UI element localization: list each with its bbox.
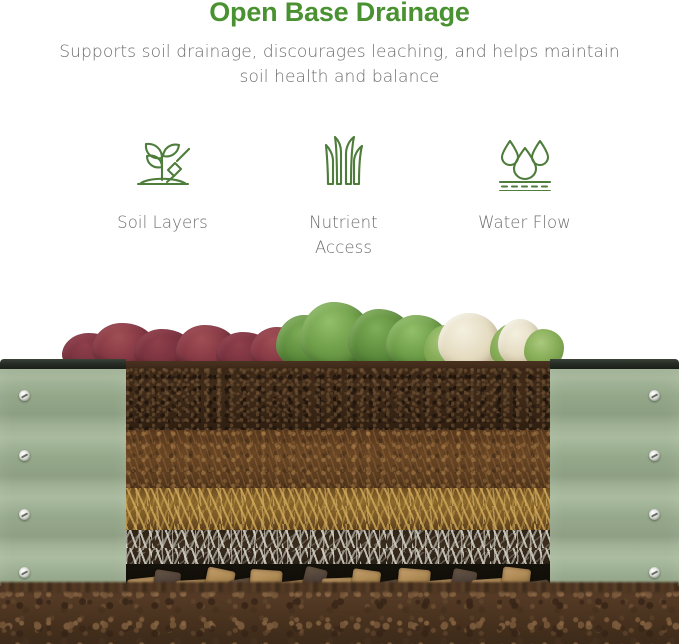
feature-label: Water Flow	[460, 210, 590, 235]
soil-layer-straw	[126, 488, 550, 530]
feature-list: Soil Layers Nutrient Access	[0, 132, 679, 260]
soil-layer-topsoil	[126, 368, 550, 430]
panel-screw	[19, 450, 30, 461]
panel-screw	[19, 509, 30, 520]
page-subtitle: Supports soil drainage, discourages leac…	[50, 40, 630, 90]
ground-soil	[0, 586, 679, 644]
water-droplets-icon	[492, 132, 558, 194]
header: Open Base Drainage Supports soil drainag…	[0, 0, 679, 90]
panel-screw	[649, 567, 660, 578]
feature-label: Nutrient Access	[279, 210, 409, 260]
panel-screw	[649, 450, 660, 461]
soil-layer-compost-mulch	[126, 430, 550, 488]
panel-screw	[649, 509, 660, 520]
page-title: Open Base Drainage	[0, 0, 679, 27]
feature-label: Soil Layers	[98, 210, 228, 235]
feature-nutrient-access: Nutrient Access	[255, 132, 433, 260]
soil-layer-twigs	[126, 530, 550, 564]
sprout-trowel-icon	[130, 132, 196, 194]
panel-screw	[19, 390, 30, 401]
soil-cross-section	[126, 368, 550, 603]
bed-panel-right-cap	[550, 359, 679, 369]
bed-panel-left-cap	[0, 359, 126, 369]
panel-screw	[19, 567, 30, 578]
feature-water-flow: Water Flow	[436, 132, 614, 235]
bed-panel-left	[0, 368, 126, 603]
bed-panel-right	[550, 368, 679, 603]
grass-blades-icon	[311, 132, 377, 194]
panel-screw	[649, 390, 660, 401]
feature-soil-layers: Soil Layers	[74, 132, 252, 235]
raised-garden-bed-photo	[0, 285, 679, 644]
product-feature-page: Open Base Drainage Supports soil drainag…	[0, 0, 679, 644]
